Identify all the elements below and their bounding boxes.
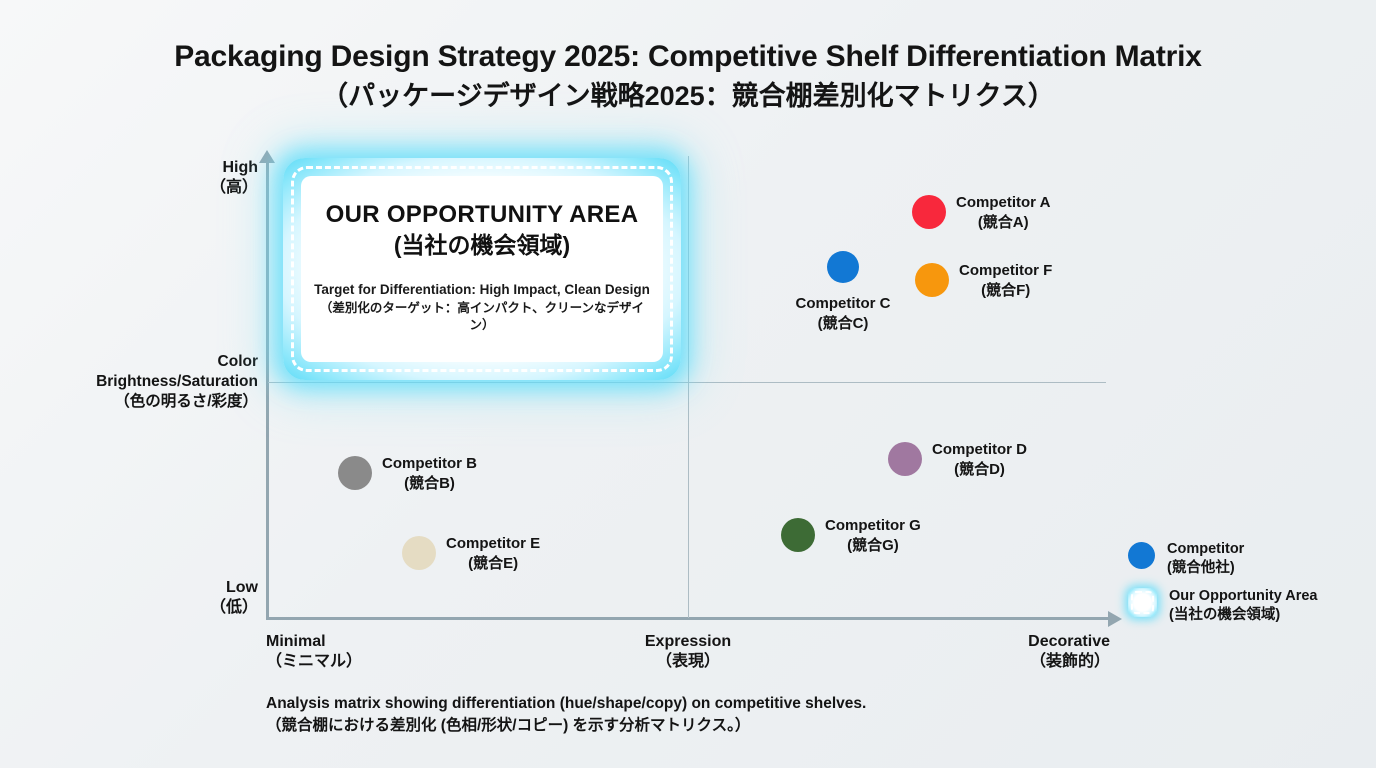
y-axis-title: Color Brightness/Saturation （色の明るさ/彩度） [28, 352, 258, 412]
footer-en: Analysis matrix showing differentiation … [266, 695, 866, 712]
x-axis-label-decorative: Decorative （装飾的） [1028, 632, 1110, 673]
competitor-label: Competitor F(競合F) [959, 261, 1052, 301]
competitor-label: Competitor G(競合G) [825, 516, 921, 556]
legend-opportunity-box-icon [1128, 588, 1157, 617]
competitor-label: Competitor A(競合A) [956, 193, 1050, 233]
competitor-dot-icon [338, 456, 372, 490]
x-mid-en: Expression [645, 633, 731, 650]
x-axis-label-minimal: Minimal （ミニマル） [266, 632, 362, 673]
x-axis-arrow-icon [1108, 611, 1122, 627]
footer-caption: Analysis matrix showing differentiation … [266, 693, 866, 737]
y-high-en: High [222, 159, 258, 176]
legend-item-competitor[interactable]: Competitor (競合他社) [1128, 540, 1368, 578]
competitor-dot-icon [781, 518, 815, 552]
x-max-ja: （装飾的） [1030, 653, 1110, 670]
quadrant-divider-vertical [688, 156, 689, 618]
competitor-label-ja: (競合B) [382, 474, 477, 494]
legend-competitor-ja: (競合他社) [1167, 559, 1244, 578]
opportunity-area-box[interactable]: OUR OPPORTUNITY AREA (当社の機会領域) Target fo… [283, 158, 681, 380]
x-min-ja: （ミニマル） [266, 653, 362, 670]
competitor-label-ja: (競合C) [796, 314, 891, 334]
competitor-dot-icon [402, 536, 436, 570]
competitor-label-en: Competitor B [382, 454, 477, 474]
y-axis-arrow-icon [259, 150, 275, 163]
competitor-dot-icon [912, 195, 946, 229]
footer-ja: （競合棚における差別化 (色相/形状/コピー) を示す分析マトリクス。） [266, 715, 866, 737]
competitor-label-en: Competitor F [959, 261, 1052, 281]
competitor-label-ja: (競合A) [956, 213, 1050, 233]
x-mid-ja: （表現） [656, 653, 720, 670]
competitor-label: Competitor E(競合E) [446, 534, 540, 574]
competitor-label-ja: (競合G) [825, 536, 921, 556]
y-axis-label-low: Low （低） [178, 578, 258, 619]
competitor-label-en: Competitor C [796, 294, 891, 314]
y-axis-line [266, 160, 269, 620]
legend-opportunity-label: Our Opportunity Area (当社の機会領域) [1169, 587, 1318, 625]
competitor-label-en: Competitor E [446, 534, 540, 554]
y-title-line2: Brightness/Saturation [96, 373, 258, 390]
matrix-chart: High （高） Low （低） Color Brightness/Satura… [0, 0, 1376, 768]
competitor-label: Competitor B(競合B) [382, 454, 477, 494]
x-axis-label-expression: Expression （表現） [645, 632, 731, 673]
y-high-ja: （高） [210, 179, 258, 196]
competitor-dot-icon [827, 251, 859, 283]
opportunity-title-ja: (当社の機会領域) [394, 231, 570, 260]
x-max-en: Decorative [1028, 633, 1110, 650]
legend: Competitor (競合他社) Our Opportunity Area (… [1128, 540, 1368, 633]
y-axis-label-high: High （高） [178, 158, 258, 199]
competitor-label-ja: (競合D) [932, 460, 1027, 480]
competitor-label: Competitor D(競合D) [932, 440, 1027, 480]
competitor-label-ja: (競合E) [446, 554, 540, 574]
competitor-label-en: Competitor A [956, 193, 1050, 213]
opportunity-subtitle-en: Target for Differentiation: High Impact,… [314, 281, 650, 299]
competitor-dot-icon [915, 263, 949, 297]
x-min-en: Minimal [266, 633, 326, 650]
y-title-ja: （色の明るさ/彩度） [114, 393, 258, 410]
y-low-ja: （低） [210, 599, 258, 616]
competitor-label-ja: (競合F) [959, 281, 1052, 301]
legend-competitor-label: Competitor (競合他社) [1167, 540, 1244, 578]
opportunity-content: OUR OPPORTUNITY AREA (当社の機会領域) Target fo… [301, 176, 663, 362]
legend-opportunity-ja: (当社の機会領域) [1169, 606, 1318, 625]
competitor-dot-icon [888, 442, 922, 476]
opportunity-subtitle-ja: （差別化のターゲット：高インパクト、クリーンなデザイン） [313, 300, 651, 334]
legend-item-opportunity[interactable]: Our Opportunity Area (当社の機会領域) [1128, 587, 1368, 625]
competitor-label-en: Competitor G [825, 516, 921, 536]
y-title-line1: Color [218, 353, 258, 370]
competitor-label: Competitor C(競合C) [796, 294, 891, 334]
quadrant-divider-horizontal [268, 382, 1106, 383]
competitor-label-en: Competitor D [932, 440, 1027, 460]
legend-competitor-en: Competitor [1167, 541, 1244, 557]
legend-competitor-dot-icon [1128, 542, 1155, 569]
legend-opportunity-en: Our Opportunity Area [1169, 588, 1318, 604]
y-low-en: Low [226, 579, 258, 596]
opportunity-title-en: OUR OPPORTUNITY AREA [326, 200, 639, 229]
